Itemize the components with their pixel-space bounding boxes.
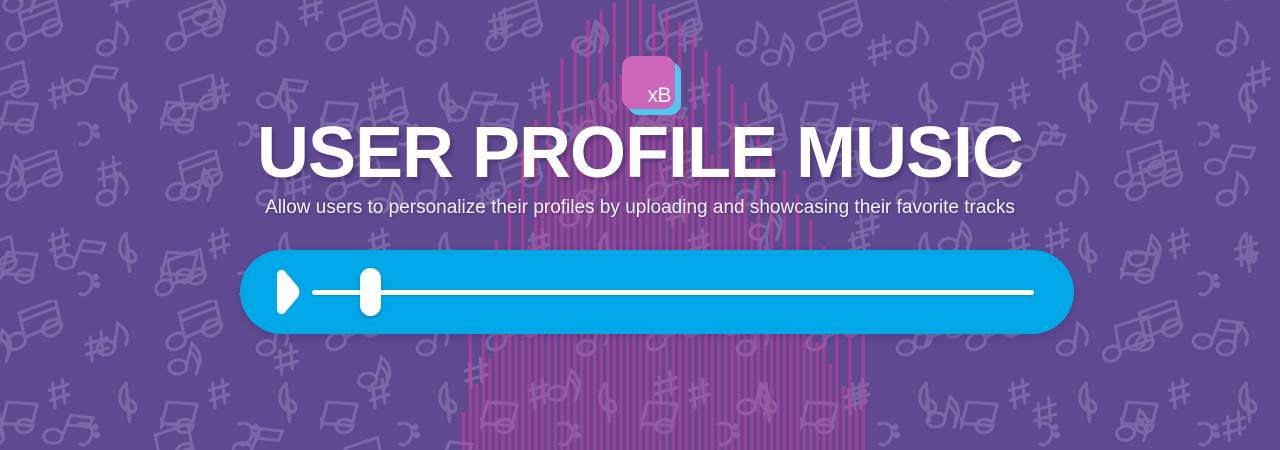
audio-player-bar[interactable] bbox=[240, 250, 1074, 334]
hero-content: xB USER PROFILE MUSIC Allow users to per… bbox=[0, 0, 1280, 450]
app-tile-icon: xB bbox=[622, 56, 675, 109]
page-subtitle: Allow users to personalize their profile… bbox=[0, 197, 1280, 220]
hero-banner: xB USER PROFILE MUSIC Allow users to per… bbox=[0, 0, 1280, 450]
play-triangle-icon[interactable] bbox=[273, 268, 301, 316]
logo-label: xB bbox=[647, 85, 675, 109]
page-title: USER PROFILE MUSIC bbox=[0, 117, 1280, 189]
slider-thumb-handle[interactable] bbox=[360, 268, 381, 316]
progress-track[interactable] bbox=[312, 290, 1034, 295]
app-logo[interactable]: xB bbox=[622, 56, 682, 116]
